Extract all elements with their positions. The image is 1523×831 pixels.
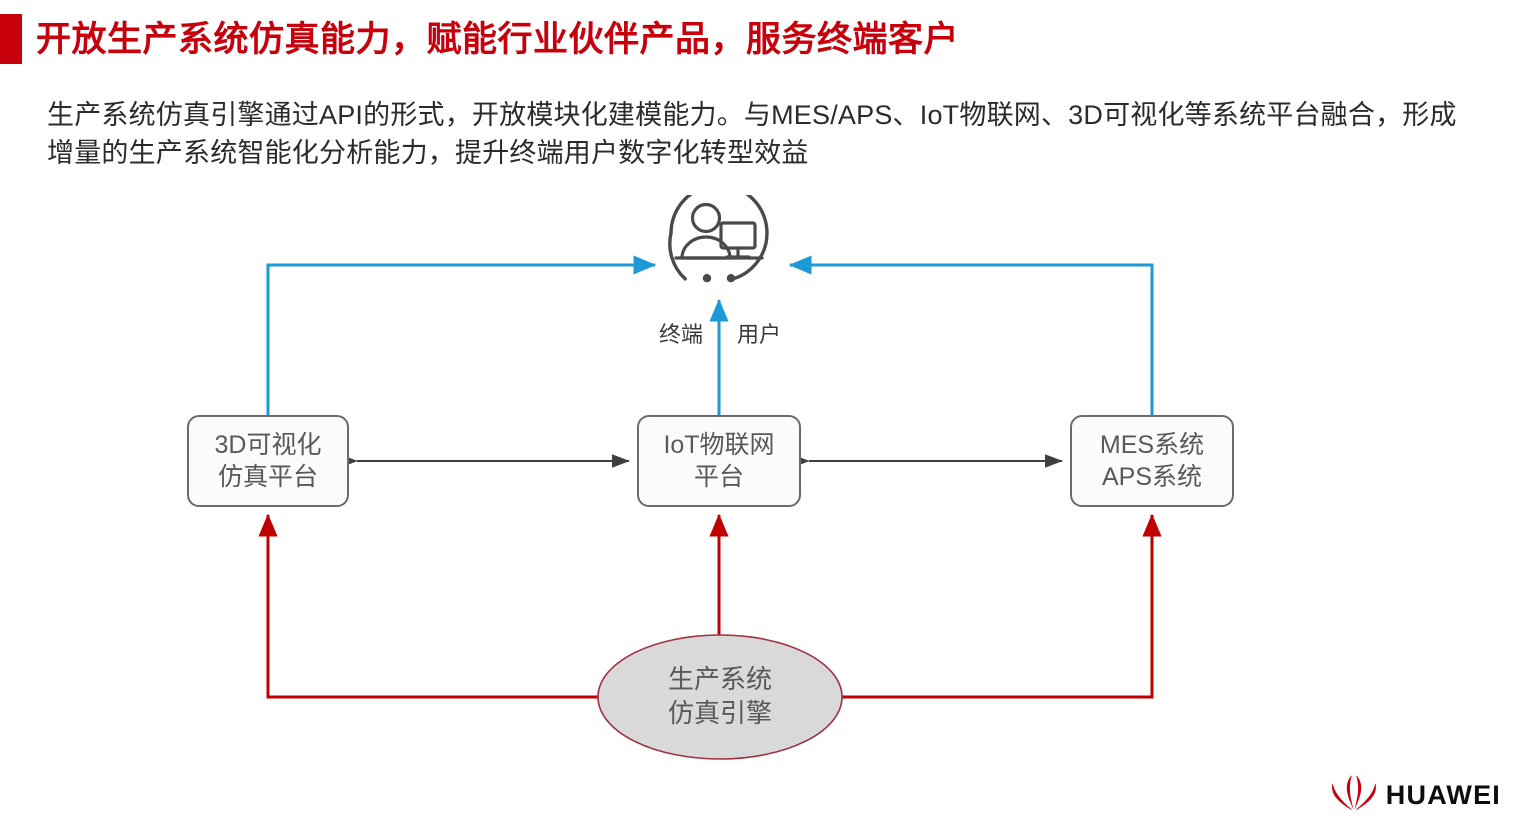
end-user-label-right: 用户: [737, 317, 781, 349]
end-user-label-left: 终端: [659, 317, 703, 349]
node-mes-aps[interactable]: MES系统 APS系统: [1070, 415, 1234, 507]
connector-visual3d-to-user: [268, 265, 655, 415]
node-visual-3d-line1: 3D可视化: [215, 429, 322, 461]
node-visual-3d-line2: 仿真平台: [218, 461, 318, 493]
huawei-petal-icon: [1332, 775, 1376, 815]
slide-canvas: 开放生产系统仿真能力，赋能行业伙伴产品，服务终端客户 生产系统仿真引擎通过API…: [0, 0, 1523, 831]
node-mes-aps-line2: APS系统: [1102, 461, 1202, 493]
connector-engine-to-visual3d: [268, 515, 600, 697]
slide-title-row: 开放生产系统仿真能力，赋能行业伙伴产品，服务终端客户: [0, 14, 959, 64]
node-iot-platform-line2: 平台: [694, 461, 744, 493]
node-mes-aps-line1: MES系统: [1100, 429, 1204, 461]
slide-subtitle: 生产系统仿真引擎通过API的形式，开放模块化建模能力。与MES/APS、IoT物…: [47, 96, 1467, 173]
node-iot-platform[interactable]: IoT物联网 平台: [637, 415, 801, 507]
architecture-diagram: 3D可视化 仿真平台 IoT物联网 平台 MES系统 APS系统 生产系统 仿真…: [0, 195, 1523, 785]
end-user-icon: [670, 195, 767, 282]
connector-mes-to-user: [790, 265, 1152, 415]
connector-engine-to-mes: [840, 515, 1152, 697]
page-title: 开放生产系统仿真能力，赋能行业伙伴产品，服务终端客户: [36, 22, 959, 57]
end-user-label: 终端 用户: [630, 317, 810, 349]
node-visual-3d[interactable]: 3D可视化 仿真平台: [187, 415, 349, 507]
simulation-engine-ellipse[interactable]: [598, 635, 842, 759]
huawei-logo: HUAWEI: [1332, 775, 1501, 815]
node-iot-platform-line1: IoT物联网: [663, 429, 774, 461]
title-accent-bar: [0, 14, 22, 64]
huawei-wordmark: HUAWEI: [1386, 782, 1501, 809]
